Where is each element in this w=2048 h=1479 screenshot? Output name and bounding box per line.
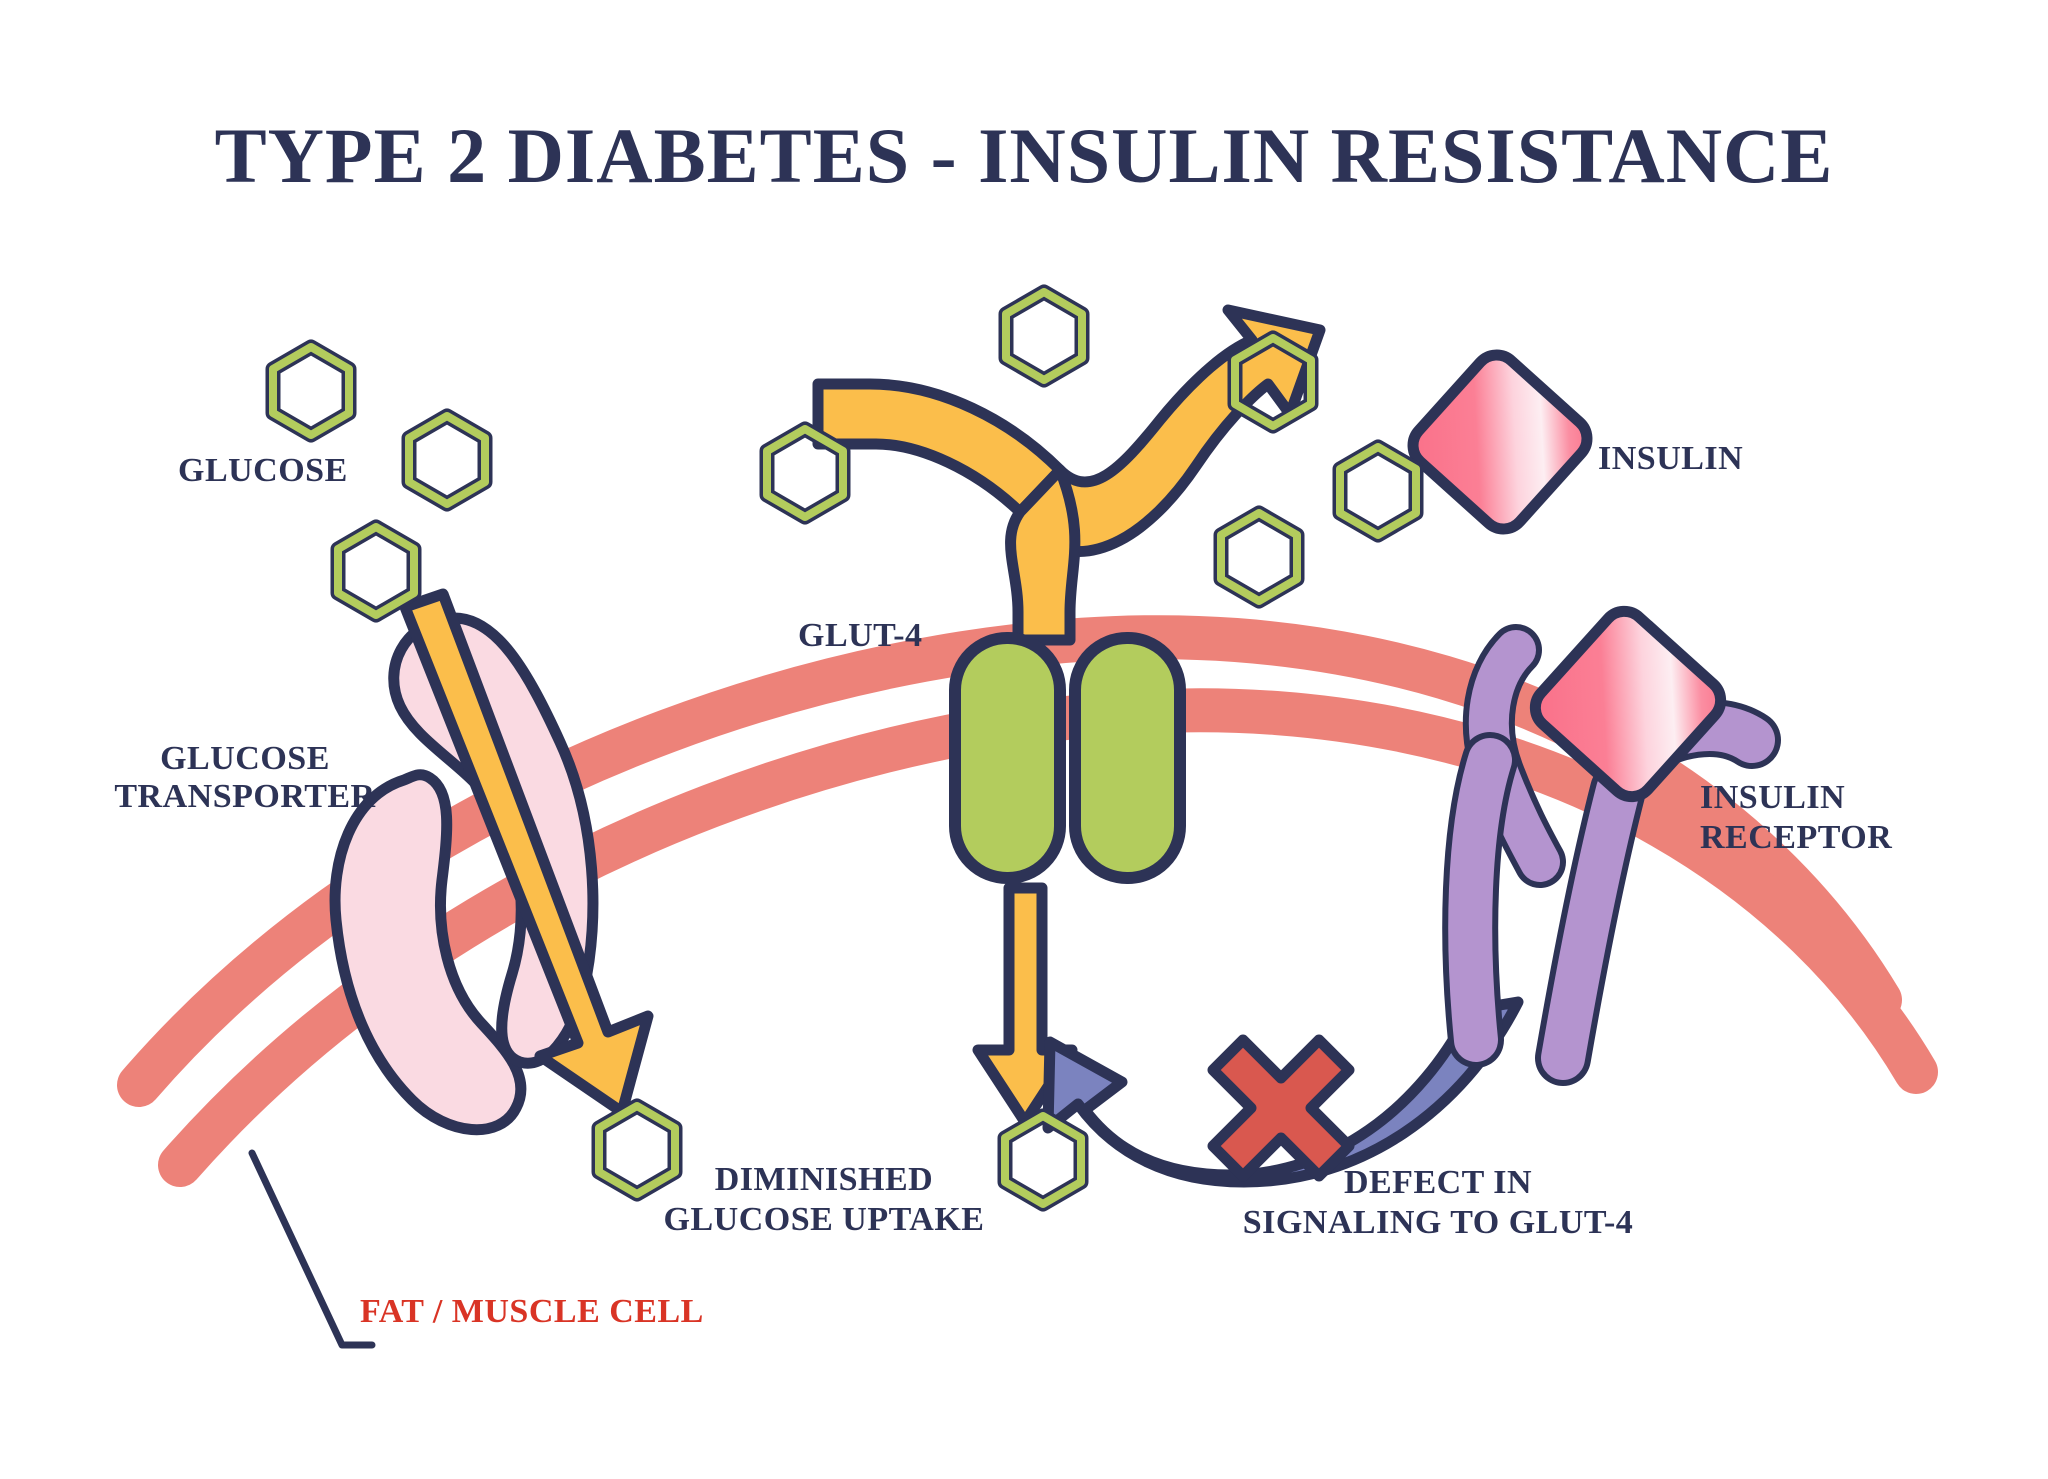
label-glucose-transporter: GLUCOSE TRANSPORTER <box>105 740 385 816</box>
glucose-molecule <box>1221 513 1297 601</box>
label-insulin-receptor: INSULIN RECEPTOR <box>1700 778 1892 858</box>
page-title: TYPE 2 DIABETES - INSULIN RESISTANCE <box>0 112 2048 199</box>
diagram-canvas: TYPE 2 DIABETES - INSULIN RESISTANCE GLU… <box>0 0 2048 1479</box>
glucose-molecule <box>1340 447 1416 535</box>
glut4-channel <box>955 638 1180 878</box>
label-defect-in-signaling: DEFECT IN SIGNALING TO GLUT-4 <box>1208 1163 1668 1243</box>
label-glut4: GLUT-4 <box>798 617 923 655</box>
glucose-molecule <box>273 347 349 435</box>
label-diminished-glucose-uptake: DIMINISHED GLUCOSE UPTAKE <box>654 1160 994 1240</box>
insulin-molecule-free <box>1404 346 1596 538</box>
glucose-molecule <box>409 416 485 504</box>
glucose-molecule <box>338 527 414 615</box>
glucose-molecule <box>1006 292 1082 380</box>
glucose-molecule <box>767 429 843 517</box>
label-glucose: GLUCOSE <box>178 452 348 490</box>
label-insulin: INSULIN <box>1598 440 1743 478</box>
cell-leader-line <box>252 1153 372 1345</box>
label-fat-muscle-cell: FAT / MUSCLE CELL <box>360 1293 704 1331</box>
